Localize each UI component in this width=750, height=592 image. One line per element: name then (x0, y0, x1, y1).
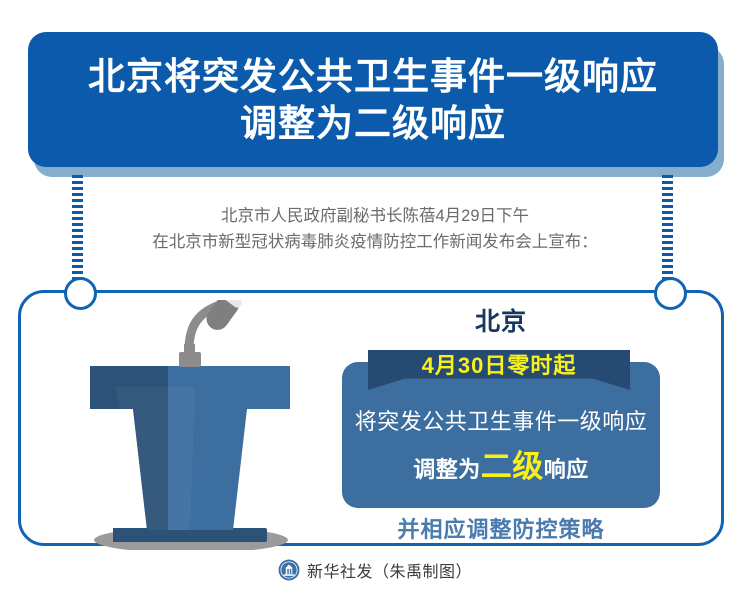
header-banner: 北京将突发公共卫生事件一级响应 调整为二级响应 (28, 32, 718, 167)
announcement-block: 北京 4月30日零时起 将突发公共卫生事件一级响应 调整为二级响应 并相应调整防… (336, 300, 666, 545)
infographic-canvas: 北京将突发公共卫生事件一级响应 调整为二级响应 北京市人民政府副秘书长陈蓓4月2… (0, 0, 750, 592)
credit-text: 新华社发（朱禹制图） (307, 558, 472, 582)
podium-highlight (115, 387, 195, 530)
level-suffix: 响应 (544, 457, 589, 482)
xinhua-agency-logo-icon (278, 559, 300, 581)
announcement-footnote: 并相应调整防控策略 (336, 512, 666, 544)
level-prefix: 调整为 (413, 457, 481, 482)
podium-illustration (78, 300, 308, 550)
connector-node-right (654, 277, 687, 310)
city-heading: 北京 (336, 302, 666, 338)
announcement-line-level: 调整为二级响应 (336, 452, 666, 485)
connector-node-left (64, 277, 97, 310)
announcement-line-primary: 将突发公共卫生事件一级响应 (336, 404, 666, 436)
subtitle-text: 北京市人民政府副秘书长陈蓓4月29日下午 在北京市新型冠状病毒肺炎疫情防控工作新… (95, 203, 655, 255)
page-title: 北京将突发公共卫生事件一级响应 调整为二级响应 (74, 53, 672, 147)
microphone-capsule (202, 300, 243, 334)
connector-line-right (662, 175, 673, 290)
level-accent: 二级 (481, 449, 544, 484)
date-ribbon-label: 4月30日零时起 (422, 350, 577, 381)
connector-line-left (72, 175, 83, 290)
credit-line: 新华社发（朱禹制图） (0, 558, 750, 582)
